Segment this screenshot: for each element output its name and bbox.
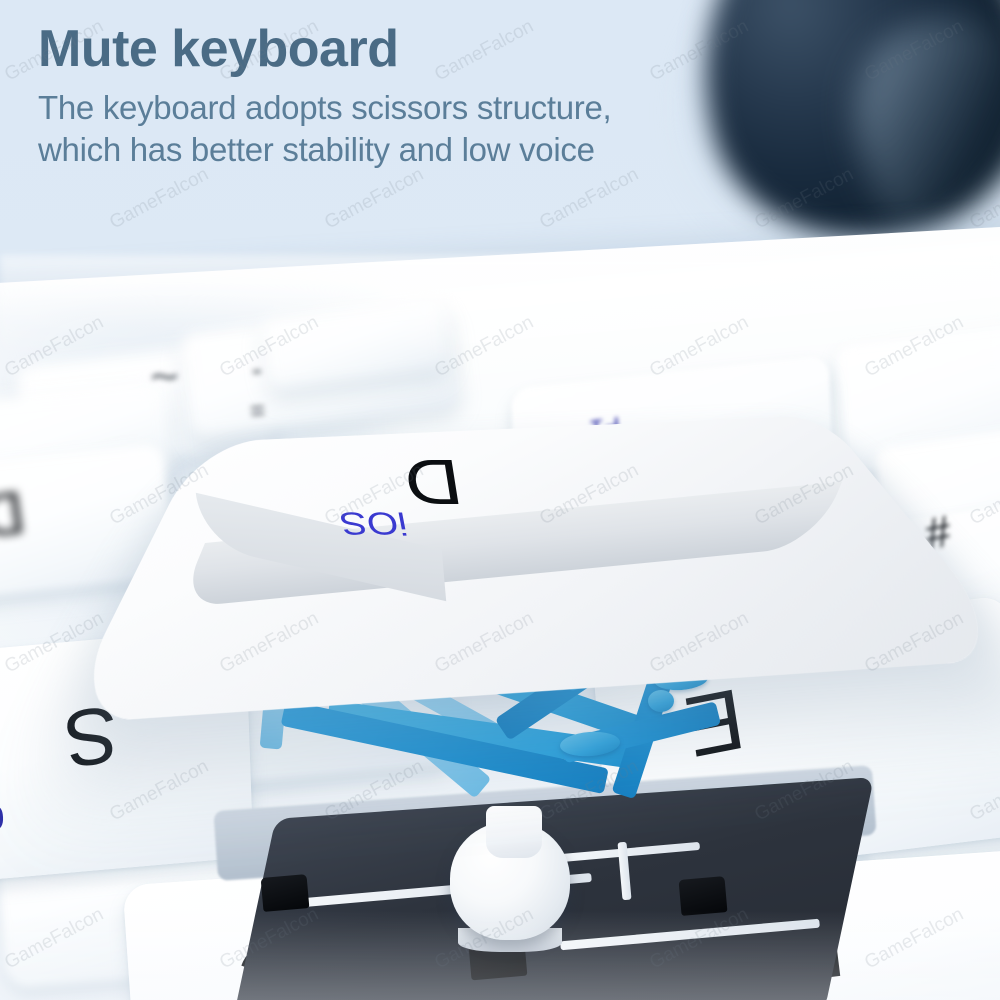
- page-subtitle: The keyboard adopts scissors structure, …: [38, 87, 778, 171]
- page-title: Mute keyboard: [38, 22, 798, 77]
- blurred-legend-tilde: ~: [148, 351, 181, 403]
- floating-keycap: [195, 425, 855, 625]
- blurred-legend-dash: -: [251, 358, 263, 389]
- watermark-text: GameFalcon: [536, 164, 642, 234]
- watermark-text: GameFalcon: [106, 164, 212, 234]
- scissor-pivot-peg: [648, 690, 674, 712]
- keycap-legend-ios: iOS: [337, 505, 411, 541]
- rubber-dome-stem: [486, 806, 542, 858]
- subtitle-line-2: which has better stability and low voice: [38, 129, 778, 171]
- keycap-legend-d: D: [399, 444, 467, 519]
- watermark-text: GameFalcon: [321, 164, 427, 234]
- switch-clip: [679, 876, 728, 916]
- blurred-legend-equal: =: [249, 398, 266, 425]
- header-block: Mute keyboard The keyboard adopts scisso…: [38, 22, 798, 171]
- product-marketing-image: ~ - = D F1 # 3 S dows E C F: [0, 0, 1000, 1000]
- switch-clip: [261, 874, 310, 912]
- keycap-sub-legend: dows: [0, 797, 6, 852]
- keycap-legend: D: [0, 481, 28, 546]
- subtitle-line-1: The keyboard adopts scissors structure,: [38, 87, 778, 129]
